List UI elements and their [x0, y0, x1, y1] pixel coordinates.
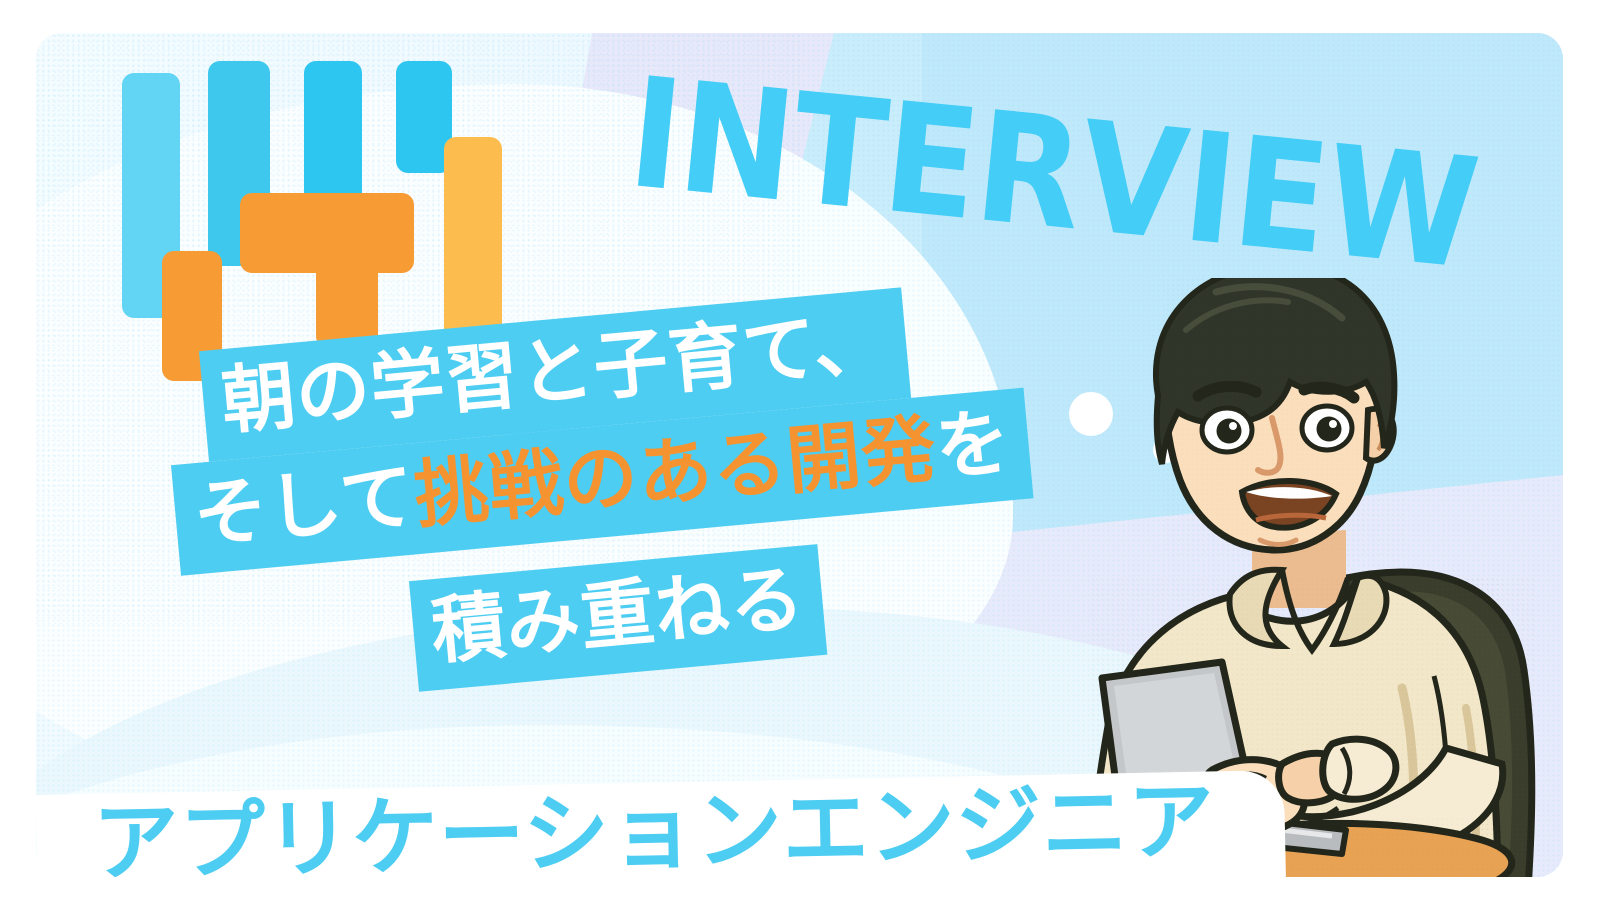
- job-title-text: アプリケーションエンジニア: [92, 777, 1293, 877]
- poster-card: INTERVIEW: [36, 33, 1563, 877]
- headline-line-2-suffix: を: [932, 399, 1014, 491]
- headline-line-3-text: 積み重ねる: [428, 556, 808, 676]
- logo-bar-orange-2: [316, 193, 378, 348]
- headline-line-2-prefix: そして: [190, 453, 419, 559]
- poster-canvas: INTERVIEW: [0, 0, 1600, 900]
- company-logo-icon: [104, 33, 544, 373]
